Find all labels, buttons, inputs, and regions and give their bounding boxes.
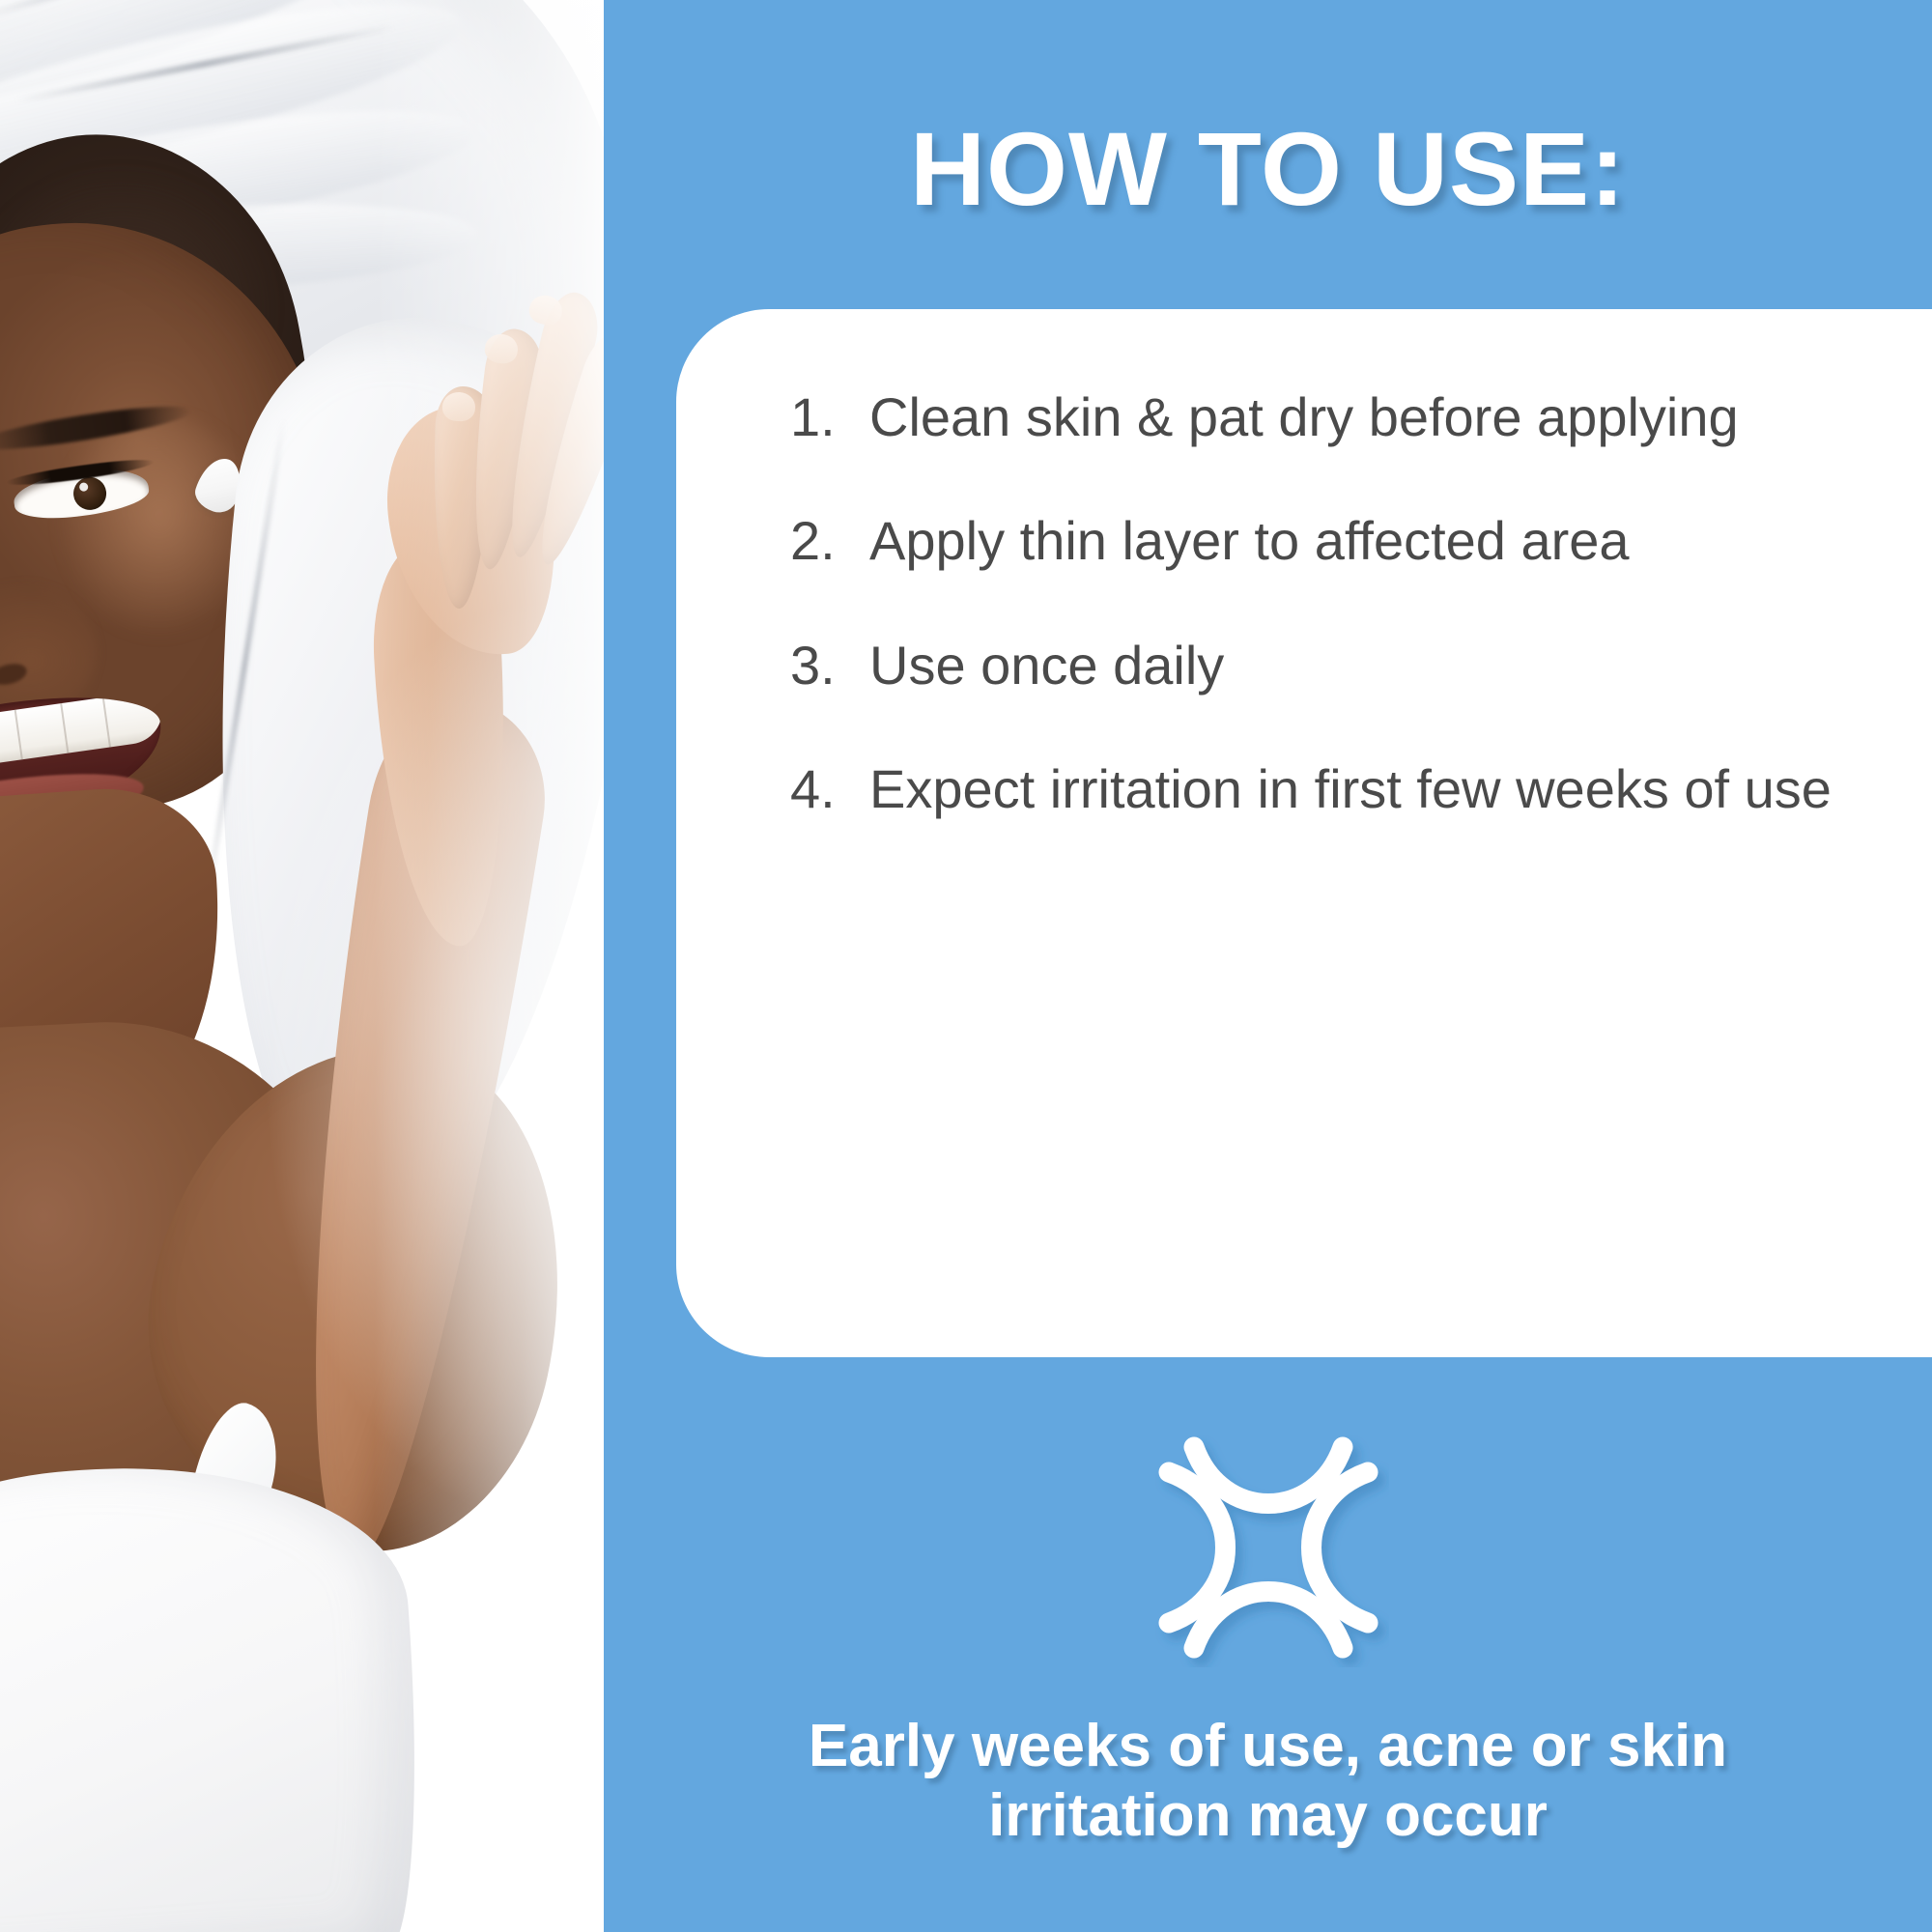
page-title: HOW TO USE: [604,114,1932,224]
step-text: Apply thin layer to affected area [869,508,1895,574]
instruction-step: 1. Clean skin & pat dry before applying [790,384,1895,450]
instructions-card: 1. Clean skin & pat dry before applying … [676,309,1932,1357]
instruction-step-list: 1. Clean skin & pat dry before applying … [790,384,1895,822]
footer-caption: Early weeks of use, acne or skin irritat… [623,1712,1913,1851]
instruction-step: 4. Expect irritation in first few weeks … [790,756,1895,822]
instruction-step: 2. Apply thin layer to affected area [790,508,1895,574]
teeth-gap [102,697,111,748]
product-photo [0,0,604,1932]
footer-icon-wrap [604,1428,1932,1667]
step-text: Clean skin & pat dry before applying [869,384,1895,450]
footer-caption-line-2: irritation may occur [623,1781,1913,1851]
how-to-use-poster: HOW TO USE: 1. Clean skin & pat dry befo… [0,0,1932,1932]
fingernail [441,391,476,422]
step-number: 4. [790,756,869,822]
step-text: Expect irritation in first few weeks of … [869,756,1895,822]
instructions-panel: HOW TO USE: 1. Clean skin & pat dry befo… [604,0,1932,1932]
teeth-gap [60,703,69,753]
step-number: 2. [790,508,869,574]
skin-irritation-x-icon [1148,1428,1389,1667]
iris [71,475,108,512]
teeth-gap [14,710,23,760]
instruction-step: 3. Use once daily [790,633,1895,698]
step-number: 3. [790,633,869,698]
footer-caption-line-1: Early weeks of use, acne or skin [623,1712,1913,1781]
step-text: Use once daily [869,633,1895,698]
step-number: 1. [790,384,869,450]
